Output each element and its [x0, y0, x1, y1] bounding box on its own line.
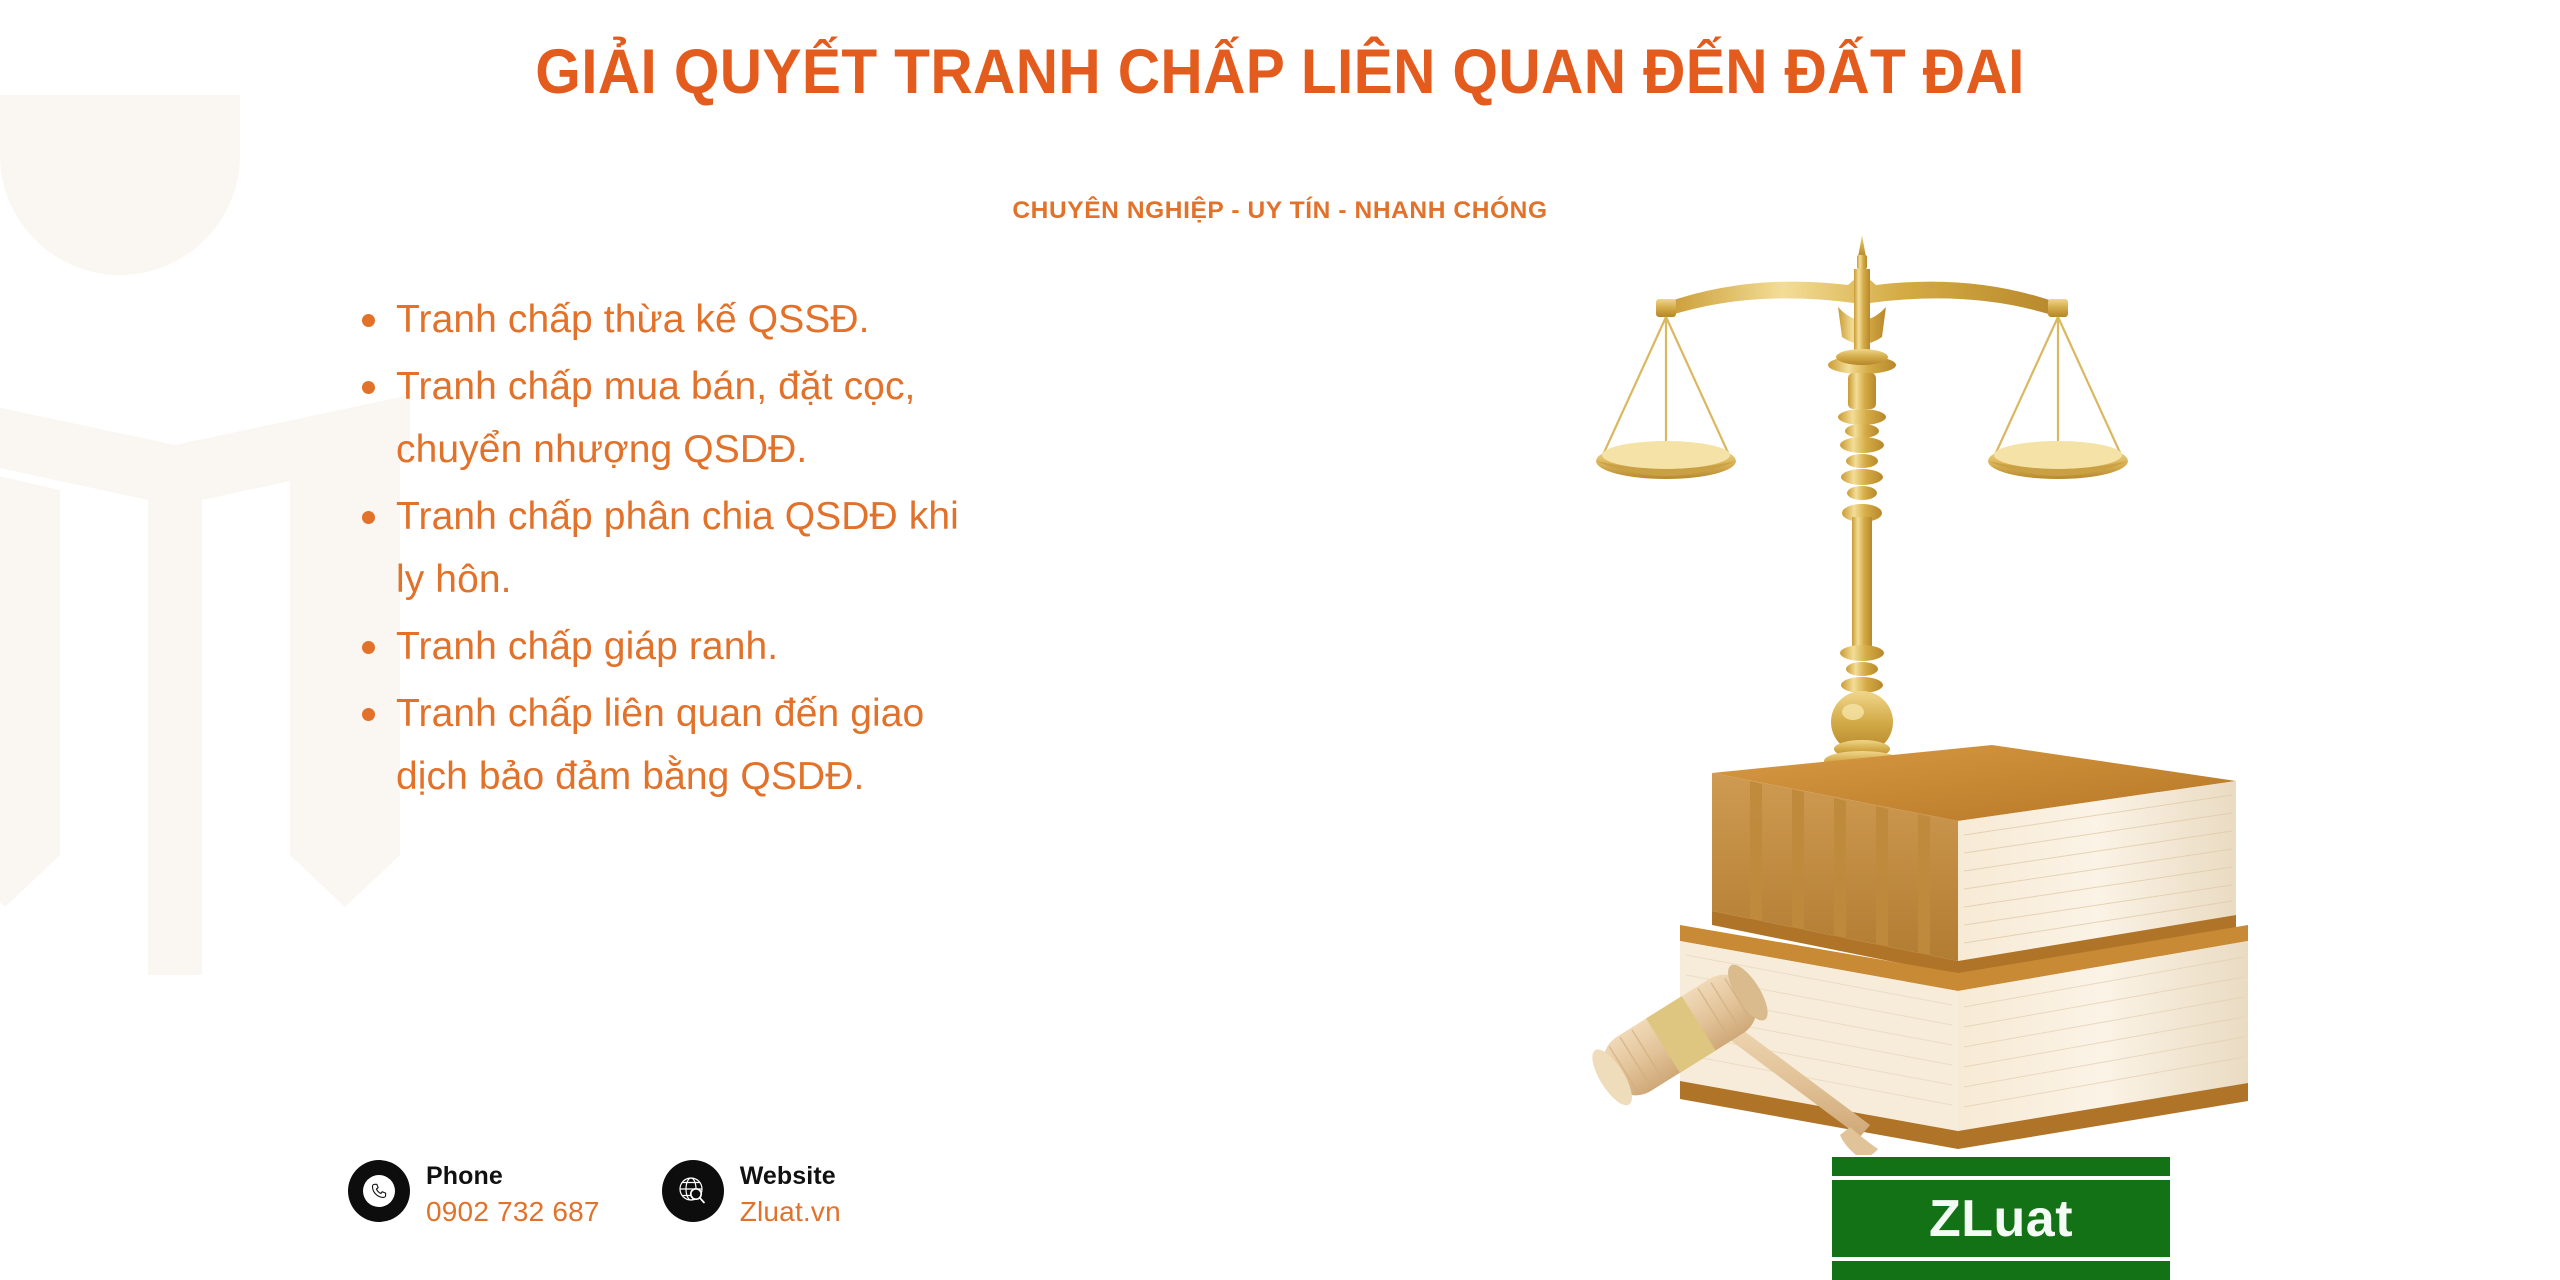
list-item-label: Tranh chấp giáp ranh.: [396, 615, 778, 678]
list-item: Tranh chấp liên quan đến giao dịch bảo đ…: [362, 682, 1222, 808]
scales-books-gavel-illustration: [1560, 225, 2340, 1155]
zluat-logo-text: ZLuat: [1929, 1189, 2073, 1249]
list-item-line: dịch bảo đảm bằng QSDĐ.: [396, 755, 864, 798]
globe-search-icon: [662, 1160, 724, 1222]
zluat-watermark-emblem: [0, 95, 410, 975]
phone-icon: [348, 1160, 410, 1222]
contact-bar: Phone 0902 732 687: [348, 1160, 841, 1229]
list-item-label: Tranh chấp thừa kế QSSĐ.: [396, 288, 870, 351]
page-title: GIẢI QUYẾT TRANH CHẤP LIÊN QUAN ĐẾN ĐẤT …: [90, 38, 2471, 106]
service-list: Tranh chấp thừa kế QSSĐ. Tranh chấp mua …: [362, 288, 1222, 812]
bullet-dot-icon: [362, 381, 375, 394]
list-item-line: ly hôn.: [396, 558, 512, 601]
bullet-dot-icon: [362, 314, 375, 327]
list-item: Tranh chấp giáp ranh.: [362, 615, 1222, 678]
law-book-top: [1712, 745, 2236, 975]
gavel: [1585, 959, 1878, 1155]
list-item-line: Tranh chấp phân chia QSDĐ khi: [396, 495, 959, 538]
contact-website-label: Website: [740, 1162, 836, 1190]
contact-website[interactable]: Website Zluat.vn: [662, 1160, 841, 1229]
bullet-dot-icon: [362, 511, 375, 524]
contact-website-text: Website Zluat.vn: [740, 1160, 841, 1229]
scales-of-justice: [1596, 235, 2128, 784]
page-subtitle: CHUYÊN NGHIỆP - UY TÍN - NHANH CHÓNG: [0, 197, 2560, 225]
contact-phone-text: Phone 0902 732 687: [426, 1160, 600, 1229]
list-item-label: Tranh chấp liên quan đến giao dịch bảo đ…: [396, 682, 924, 808]
contact-phone-label: Phone: [426, 1162, 503, 1190]
bullet-dot-icon: [362, 641, 375, 654]
list-item-label: Tranh chấp phân chia QSDĐ khi ly hôn.: [396, 485, 959, 611]
list-item: Tranh chấp phân chia QSDĐ khi ly hôn.: [362, 485, 1222, 611]
list-item-line: Tranh chấp mua bán, đặt cọc,: [396, 365, 916, 408]
banner-canvas: GIẢI QUYẾT TRANH CHẤP LIÊN QUAN ĐẾN ĐẤT …: [0, 0, 2560, 1280]
bullet-dot-icon: [362, 708, 375, 721]
contact-phone-value: 0902 732 687: [426, 1194, 600, 1229]
zluat-logo-badge[interactable]: ZLuat: [1832, 1157, 2170, 1280]
list-item-line: chuyển nhượng QSDĐ.: [396, 428, 807, 471]
list-item-line: Tranh chấp liên quan đến giao: [396, 692, 924, 735]
list-item: Tranh chấp thừa kế QSSĐ.: [362, 288, 1222, 351]
contact-website-value: Zluat.vn: [740, 1194, 841, 1229]
list-item: Tranh chấp mua bán, đặt cọc, chuyển nhượ…: [362, 355, 1222, 481]
list-item-label: Tranh chấp mua bán, đặt cọc, chuyển nhượ…: [396, 355, 916, 481]
law-book-bottom: [1680, 925, 2248, 1149]
contact-phone[interactable]: Phone 0902 732 687: [348, 1160, 600, 1229]
